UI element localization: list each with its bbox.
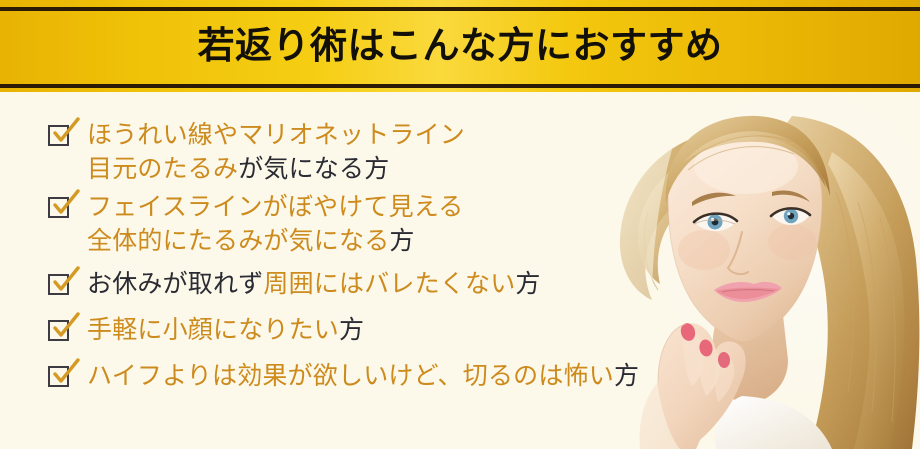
list-item: フェイスラインがぼやけて見える 全体的にたるみが気になる方 <box>0 190 920 258</box>
list-item-accent: 周囲にはバレたくない <box>263 270 515 298</box>
checkbox-checked-icon[interactable] <box>48 274 69 295</box>
list-item: 手軽に小顔になりたい方 <box>0 313 920 347</box>
checkbox-checked-icon[interactable] <box>48 125 69 146</box>
list-item-text: 手軽に小顔になりたい方 <box>87 313 364 347</box>
list-item-text: フェイスラインがぼやけて見える 全体的にたるみが気になる方 <box>87 190 464 258</box>
check-mark-icon <box>51 269 79 295</box>
list-item-line2: 全体的にたるみが気になる方 <box>87 224 464 258</box>
list-item: ハイフよりは効果が欲しいけど、切るのは怖い方 <box>0 359 920 393</box>
checkbox-checked-icon[interactable] <box>48 320 69 341</box>
list-item-line2: 目元のたるみが気になる方 <box>87 152 465 186</box>
checkbox-checked-icon[interactable] <box>48 366 69 387</box>
list-item-suffix: 方 <box>389 227 414 255</box>
list-item: ほうれい線やマリオネットライン 目元のたるみが気になる方 <box>0 118 920 186</box>
list-item-text: お休みが取れず周囲にはバレたくない方 <box>87 267 541 301</box>
list-item-line1: ほうれい線やマリオネットライン <box>87 121 465 149</box>
checkbox-checked-icon[interactable] <box>48 197 69 218</box>
page-title: 若返り術はこんな方におすすめ <box>0 0 920 92</box>
list-item-text: ほうれい線やマリオネットライン 目元のたるみが気になる方 <box>87 118 465 186</box>
benefits-checklist: ほうれい線やマリオネットライン 目元のたるみが気になる方 フェイスラインがぼやけ… <box>0 92 920 449</box>
list-item-suffix: 方 <box>614 362 639 390</box>
promo-banner: 若返り術はこんな方におすすめ <box>0 0 920 449</box>
list-item-accent: 手軽に小顔になりたい <box>87 316 339 344</box>
list-item-text: ハイフよりは効果が欲しいけど、切るのは怖い方 <box>87 359 639 393</box>
list-item-accent: 目元のたるみ <box>87 155 238 183</box>
list-item-accent: 全体的にたるみが気になる <box>87 227 389 255</box>
list-item-line1: フェイスラインがぼやけて見える <box>87 193 464 221</box>
check-mark-icon <box>51 361 79 387</box>
list-item: お休みが取れず周囲にはバレたくない方 <box>0 267 920 301</box>
list-item-suffix: が気になる方 <box>238 155 389 183</box>
list-item-accent: ハイフよりは効果が欲しいけど、切るのは怖い <box>87 362 614 390</box>
list-item-prefix: お休みが取れず <box>87 270 263 298</box>
check-mark-icon <box>51 120 79 146</box>
list-item-suffix: 方 <box>515 270 540 298</box>
check-mark-icon <box>51 192 79 218</box>
check-mark-icon <box>51 315 79 341</box>
list-item-suffix: 方 <box>339 316 364 344</box>
